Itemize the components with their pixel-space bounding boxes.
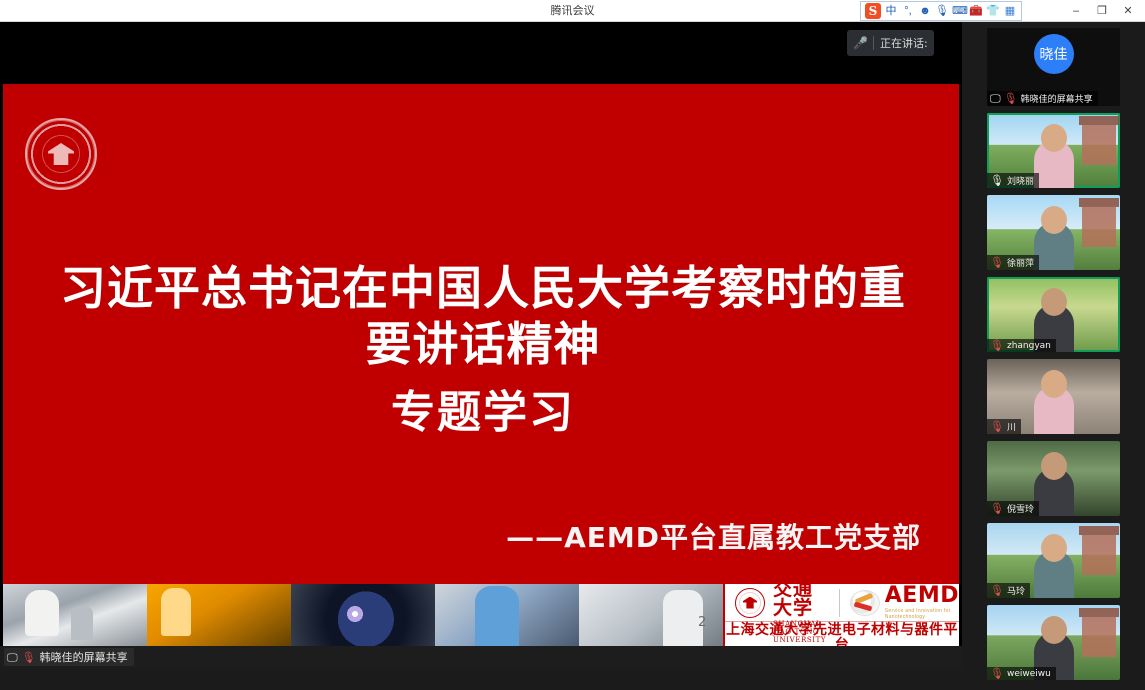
- footer-university-cn: 上海交通大学: [773, 561, 829, 618]
- sjtu-seal-logo-icon: [25, 118, 97, 190]
- tile-label: 🖵 🎙 韩晓佳的屏幕共享: [987, 91, 1098, 106]
- participants-rail[interactable]: 晓佳 🖵 🎙 韩晓佳的屏幕共享 🎙 刘晓丽 🎙 徐丽萍: [962, 22, 1145, 690]
- toolbox-icon[interactable]: 🧰: [969, 3, 983, 19]
- participant-name: 徐丽萍: [1007, 256, 1034, 269]
- tencent-meeting-window: 腾讯会议 S 中 °, ☻ 🎙 ⌨ 🧰 👕 ▦ – ❐ ✕ 🎤 正在讲话: ◀: [0, 0, 1145, 690]
- tile-participant-5[interactable]: 🎙 倪雪玲: [987, 441, 1120, 516]
- tile-label: 🎙 徐丽萍: [987, 255, 1039, 270]
- tile-participant-2[interactable]: 🎙 徐丽萍: [987, 195, 1120, 270]
- soft-keyboard-icon[interactable]: ⌨: [952, 3, 966, 19]
- tile-label: 🎙 weiweiwu: [987, 667, 1056, 680]
- tile-label: 🎙 倪雪玲: [987, 501, 1039, 516]
- campus-building-decor: [1082, 615, 1116, 657]
- monitor-icon: 🖵: [990, 93, 1001, 104]
- screen-share-status-bar: 🖵 🎙 韩晓佳的屏幕共享: [0, 646, 962, 668]
- participant-name: zhangyan: [1007, 341, 1051, 351]
- mic-muted-icon: 🎙: [990, 585, 1004, 596]
- slide-footer-strip: 上海交通大学 SHANGHAI JIAO TONG UNIVERSITY AEM…: [3, 584, 959, 652]
- tile-participant-4[interactable]: 🎙 川: [987, 359, 1120, 434]
- avatar: 晓佳: [1034, 34, 1074, 74]
- mic-muted-icon: 🎙: [990, 503, 1004, 514]
- participant-name: 刘晓丽: [1007, 174, 1034, 187]
- slide-subtitle: 专题学习: [53, 384, 913, 442]
- participant-video-figure: [1034, 222, 1074, 270]
- presentation-slide: 习近平总书记在中国人民大学考察时的重要讲话精神 专题学习 ——AEMD平台直属教…: [3, 84, 959, 652]
- stage-top-band: [0, 22, 962, 84]
- minimize-button[interactable]: –: [1063, 1, 1089, 21]
- status-share-label: 韩晓佳的屏幕共享: [40, 649, 128, 665]
- mic-muted-icon: 🎙: [1004, 93, 1018, 104]
- tile-participant-1[interactable]: 🎙 刘晓丽: [987, 113, 1120, 188]
- slide-page-number: 2: [698, 615, 706, 630]
- sogou-ime-toolbar[interactable]: S 中 °, ☻ 🎙 ⌨ 🧰 👕 ▦: [860, 1, 1022, 21]
- tile-screen-share[interactable]: 晓佳 🖵 🎙 韩晓佳的屏幕共享: [987, 28, 1120, 106]
- tile-label: 🎙 马玲: [987, 583, 1030, 598]
- participant-video-figure: [1034, 140, 1074, 188]
- voice-input-icon[interactable]: 🎙: [935, 3, 949, 19]
- slide-footer-logo-block: 上海交通大学 SHANGHAI JIAO TONG UNIVERSITY AEM…: [723, 584, 959, 652]
- sogou-logo-icon[interactable]: S: [865, 3, 881, 19]
- campus-building-decor: [1082, 205, 1116, 247]
- footer-brand: AEMD: [885, 585, 959, 607]
- footer-logo-row: 上海交通大学 SHANGHAI JIAO TONG UNIVERSITY AEM…: [725, 584, 959, 622]
- shared-screen-stage: 🎤 正在讲话: ◀ ↩ 习近平总书记在中国人民大学考察时的重要讲话精神 专题学习…: [0, 22, 962, 668]
- mic-muted-icon: 🎙: [990, 340, 1004, 351]
- window-controls: – ❐ ✕: [1063, 0, 1141, 22]
- chinese-mode-icon[interactable]: 中: [884, 3, 898, 19]
- punctuation-icon[interactable]: °,: [901, 3, 915, 19]
- participant-name: 倪雪玲: [1007, 502, 1034, 515]
- campus-building-decor: [1082, 123, 1116, 165]
- speaking-indicator: 🎤 正在讲话:: [847, 30, 934, 56]
- aemd-mark-icon: [850, 590, 880, 616]
- microphone-icon: 🎤: [853, 36, 867, 50]
- participant-name: 川: [1007, 420, 1016, 433]
- photo-engineer-blue-suit: [435, 584, 579, 652]
- mic-muted-icon: 🎙: [990, 421, 1004, 432]
- maximize-button[interactable]: ❐: [1089, 1, 1115, 21]
- photo-lithography-yellow-room: [147, 584, 291, 652]
- skin-icon[interactable]: 👕: [986, 3, 1000, 19]
- mic-muted-icon: 🎙: [22, 652, 36, 663]
- participant-video-figure: [1034, 550, 1074, 598]
- window-title-bar: 腾讯会议 S 中 °, ☻ 🎙 ⌨ 🧰 👕 ▦ – ❐ ✕: [0, 0, 1145, 22]
- sjtu-footer-seal-icon: [735, 588, 765, 618]
- photo-wafer-probe: [291, 584, 435, 652]
- participant-name: 马玲: [1007, 584, 1025, 597]
- slide-attribution: ——AEMD平台直属教工党支部: [506, 516, 921, 556]
- tile-participant-7[interactable]: 🎙 weiweiwu: [987, 605, 1120, 680]
- photo-cleanroom-robot: [3, 584, 147, 652]
- tile-label: 🎙 刘晓丽: [987, 173, 1039, 188]
- monitor-icon: 🖵: [7, 652, 18, 663]
- participant-name: weiweiwu: [1007, 669, 1051, 679]
- mic-muted-icon: 🎙: [990, 257, 1004, 268]
- slide-title: 习近平总书记在中国人民大学考察时的重要讲话精神: [53, 260, 913, 372]
- speaking-divider: [873, 36, 874, 50]
- participant-video-figure: [1034, 468, 1074, 516]
- tile-participant-3[interactable]: 🎙 zhangyan: [987, 277, 1120, 352]
- mic-icon: 🎙: [990, 175, 1004, 186]
- participant-video-figure: [1034, 386, 1074, 434]
- tile-label: 🎙 zhangyan: [987, 339, 1056, 352]
- apps-grid-icon[interactable]: ▦: [1003, 3, 1017, 19]
- emoji-icon[interactable]: ☻: [918, 3, 932, 19]
- footer-brand-tagline: Service and Innovation for Nanotechnolog…: [885, 608, 959, 620]
- tile-participant-6[interactable]: 🎙 马玲: [987, 523, 1120, 598]
- speaking-label: 正在讲话:: [880, 35, 928, 51]
- campus-building-decor: [1082, 533, 1116, 575]
- close-button[interactable]: ✕: [1115, 1, 1141, 21]
- participant-name: 韩晓佳的屏幕共享: [1021, 92, 1093, 105]
- tile-label: 🎙 川: [987, 419, 1021, 434]
- status-share-chip: 🖵 🎙 韩晓佳的屏幕共享: [4, 648, 134, 666]
- mic-muted-icon: 🎙: [990, 668, 1004, 679]
